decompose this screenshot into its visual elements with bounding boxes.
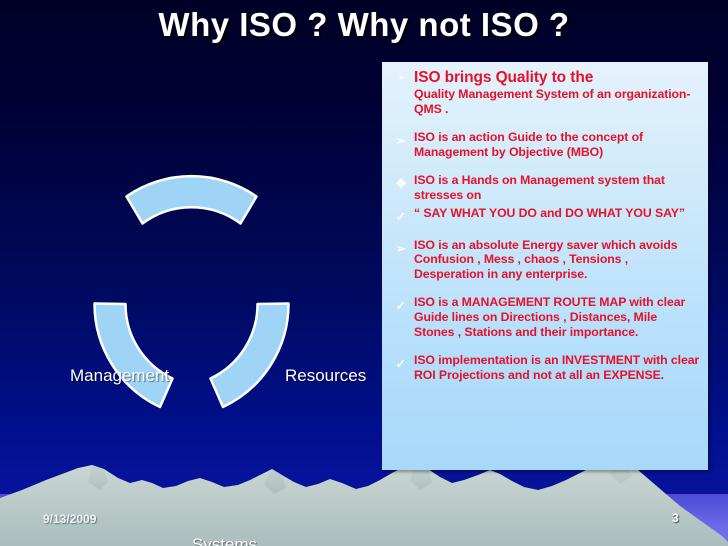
check-bullet-icon: ✓ (388, 206, 414, 224)
cycle-arc-bottom-left (94, 304, 172, 408)
list-item: ✓ ISO is a MANAGEMENT ROUTE MAP with cle… (388, 295, 700, 339)
check-bullet-icon: ✓ (388, 353, 414, 371)
cycle-diagram: Management Resources Systems (40, 140, 360, 430)
check-bullet-icon: ✓ (388, 295, 414, 313)
diamond-bullet-icon: ❖ (388, 173, 414, 191)
list-item: ✓ ISO implementation is an INVESTMENT wi… (388, 353, 700, 382)
slide-canvas: Why ISO ? Why not ISO ? Management Resou… (0, 0, 728, 546)
list-item: • ISO brings Quality to theQuality Manag… (388, 68, 700, 116)
cycle-label-management: Management (70, 366, 169, 386)
cycle-arc-bottom-right (211, 304, 289, 408)
bullet-text: ISO is a Hands on Management system that… (414, 173, 700, 202)
benefits-panel: • ISO brings Quality to theQuality Manag… (382, 62, 708, 470)
cycle-label-resources: Resources (285, 366, 366, 386)
cycle-segments (40, 140, 360, 430)
bullet-text: ISO implementation is an INVESTMENT with… (414, 353, 700, 382)
cycle-arc-top (127, 176, 257, 223)
bullet-text: ISO brings Quality to theQuality Managem… (414, 68, 700, 116)
bullet-text: ISO is a MANAGEMENT ROUTE MAP with clear… (414, 295, 700, 339)
chevron-bullet-icon: ➢ (388, 130, 414, 148)
bullet-text: ISO is an absolute Energy saver which av… (414, 238, 700, 282)
list-item: ✓ “ SAY WHAT YOU DO and DO WHAT YOU SAY” (388, 206, 700, 224)
chevron-bullet-icon: ➢ (388, 238, 414, 256)
footer-date: 9/13/2009 (43, 512, 96, 526)
list-item: ➢ ISO is an absolute Energy saver which … (388, 238, 700, 282)
slide-title: Why ISO ? Why not ISO ? (0, 6, 728, 44)
bullet-text: “ SAY WHAT YOU DO and DO WHAT YOU SAY” (414, 206, 700, 221)
bullet-body: Quality Management System of an organiza… (414, 87, 690, 116)
cycle-label-systems: Systems (192, 535, 257, 546)
dot-bullet-icon: • (388, 68, 414, 86)
footer-page-number: 3 (672, 511, 679, 525)
bullet-lead: ISO brings Quality to the (414, 69, 593, 86)
bullet-list: • ISO brings Quality to theQuality Manag… (382, 62, 708, 382)
bullet-text: ISO is an action Guide to the concept of… (414, 130, 700, 159)
list-item: ❖ ISO is a Hands on Management system th… (388, 173, 700, 202)
list-item: ➢ ISO is an action Guide to the concept … (388, 130, 700, 159)
